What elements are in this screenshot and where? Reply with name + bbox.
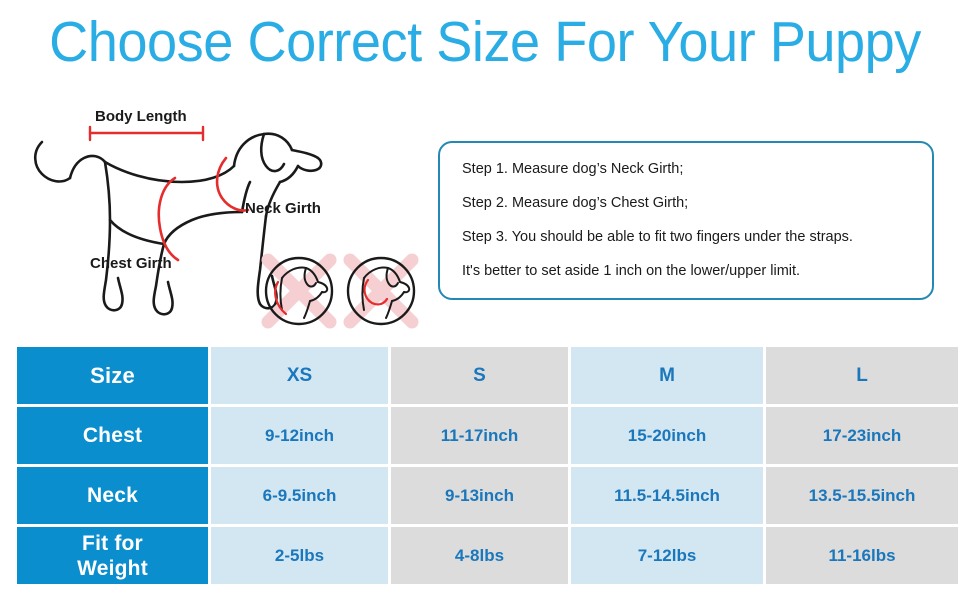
header-size-label: Size — [17, 347, 208, 404]
dog-measurement-diagram: Body Length Neck Girth Chest Girth — [10, 100, 430, 340]
instruction-step-3: Step 3. You should be able to fit two fi… — [462, 229, 853, 245]
table-row: Chest 9-12inch 11-17inch 15-20inch 17-23… — [17, 407, 958, 464]
label-body-length: Body Length — [95, 108, 187, 125]
cell-chest-m: 15-20inch — [571, 407, 763, 464]
table-row: Fit for Weight 2-5lbs 4-8lbs 7-12lbs 11-… — [17, 527, 958, 584]
row-label-chest: Chest — [17, 407, 208, 464]
cell-neck-l: 13.5-15.5inch — [766, 467, 958, 524]
cell-chest-l: 17-23inch — [766, 407, 958, 464]
label-chest-girth: Chest Girth — [90, 255, 172, 272]
cell-weight-s: 4-8lbs — [391, 527, 568, 584]
cell-weight-xs: 2-5lbs — [211, 527, 388, 584]
cell-chest-xs: 9-12inch — [211, 407, 388, 464]
cell-weight-m: 7-12lbs — [571, 527, 763, 584]
instructions-box: Step 1. Measure dog’s Neck Girth; Step 2… — [438, 141, 934, 300]
cell-chest-s: 11-17inch — [391, 407, 568, 464]
cell-neck-xs: 6-9.5inch — [211, 467, 388, 524]
header-size-xs: XS — [211, 347, 388, 404]
row-label-neck: Neck — [17, 467, 208, 524]
chest-girth-measure-line — [159, 178, 178, 260]
size-chart-table: Size XS S M L Chest 9-12inch 11-17inch 1… — [14, 344, 961, 587]
dog-outline-illustration — [10, 100, 430, 340]
cell-neck-m: 11.5-14.5inch — [571, 467, 763, 524]
no-measure-chest-icon — [266, 258, 332, 324]
instruction-step-2: Step 2. Measure dog’s Chest Girth; — [462, 195, 688, 211]
label-neck-girth: Neck Girth — [245, 200, 321, 217]
row-label-line1: Fit for — [82, 532, 143, 555]
instruction-step-1: Step 1. Measure dog’s Neck Girth; — [462, 161, 683, 177]
header-size-l: L — [766, 347, 958, 404]
page-title: Choose Correct Size For Your Puppy — [24, 8, 946, 76]
cell-neck-s: 9-13inch — [391, 467, 568, 524]
body-length-measure-line — [90, 127, 203, 140]
no-measure-neck-icon — [348, 258, 414, 324]
row-label-line2: Weight — [77, 557, 148, 580]
instruction-note: It's better to set aside 1 inch on the l… — [462, 263, 800, 279]
cell-weight-l: 11-16lbs — [766, 527, 958, 584]
table-header-row: Size XS S M L — [17, 347, 958, 404]
table-row: Neck 6-9.5inch 9-13inch 11.5-14.5inch 13… — [17, 467, 958, 524]
header-size-s: S — [391, 347, 568, 404]
row-label-fit-for-weight: Fit for Weight — [17, 527, 208, 584]
header-size-m: M — [571, 347, 763, 404]
